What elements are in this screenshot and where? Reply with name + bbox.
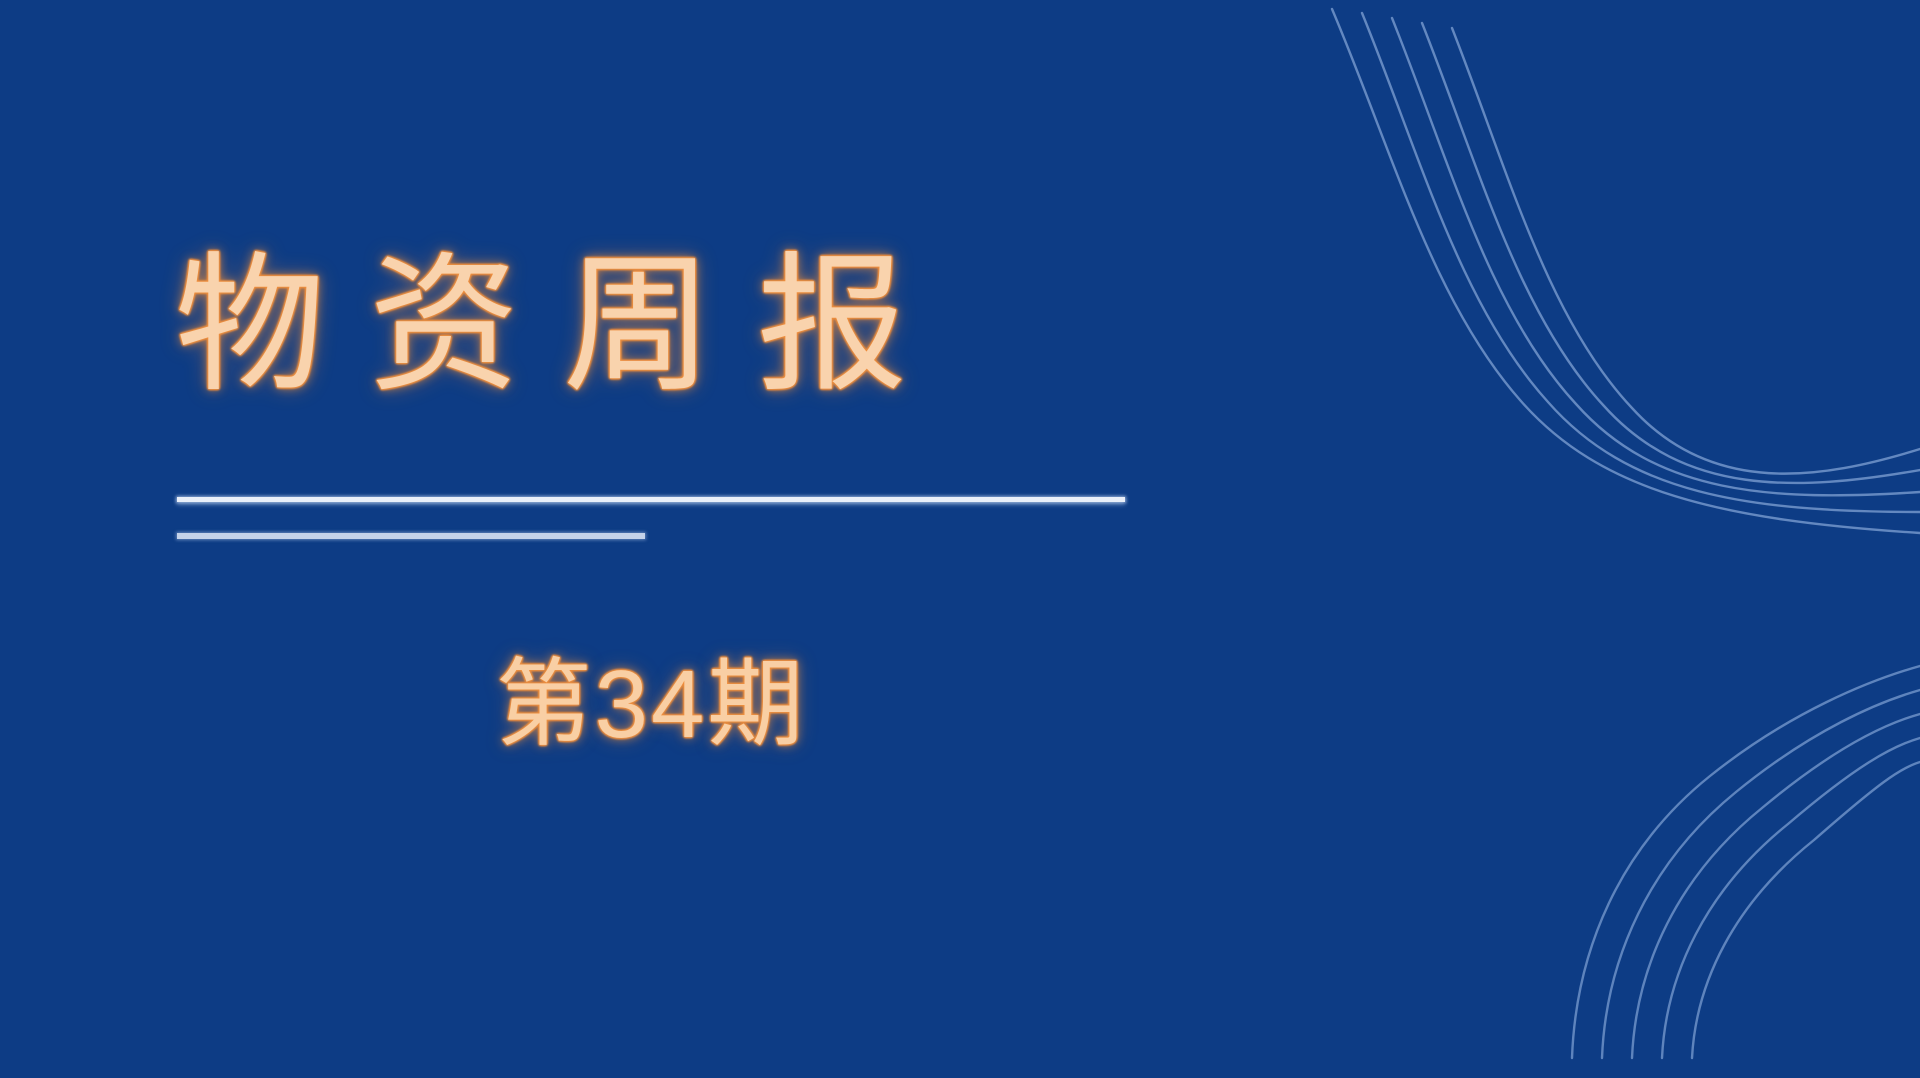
title-block: 物资周报 (175, 250, 1175, 400)
divider-secondary (177, 533, 645, 539)
title-slide: 物资周报 第34期 (0, 0, 1920, 1078)
curved-lines-top-right-icon (1332, 9, 1920, 533)
page-title: 物资周报 (175, 250, 1175, 400)
decorative-curves (0, 0, 1920, 1078)
subtitle-block: 第34期 (177, 655, 1125, 756)
divider-primary (177, 497, 1125, 502)
curved-lines-bottom-right-icon (1572, 666, 1920, 1058)
issue-number: 第34期 (496, 655, 807, 756)
